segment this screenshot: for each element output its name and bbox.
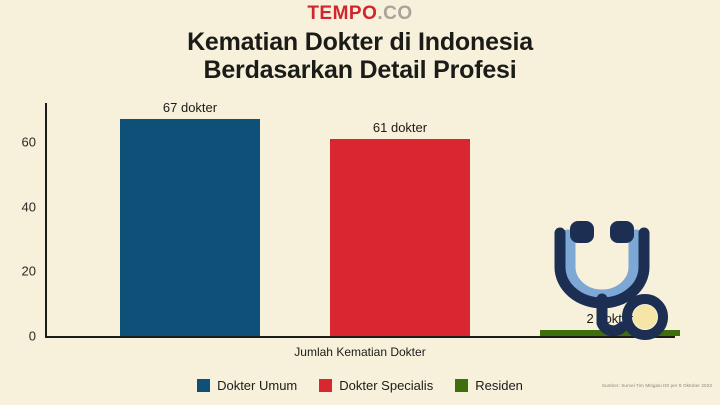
bar-value-label: 67 dokter: [163, 100, 217, 115]
y-tick-label: 40: [22, 199, 45, 214]
y-tick-label: 0: [29, 329, 45, 344]
brand-name: TEMPO: [307, 3, 377, 24]
y-tick-label: 60: [22, 134, 45, 149]
legend-swatch: [319, 379, 332, 392]
brand-suffix: .CO: [377, 3, 412, 24]
title-line-2: Berdasarkan Detail Profesi: [0, 56, 720, 84]
y-axis-line: [45, 103, 47, 338]
tempo-logo: TEMPO.CO: [0, 4, 720, 24]
x-axis-label: Jumlah Kematian Dokter: [45, 345, 675, 359]
legend-item[interactable]: Dokter Specialis: [319, 378, 433, 393]
legend-swatch: [455, 379, 468, 392]
legend-label: Dokter Specialis: [339, 378, 433, 393]
legend-item[interactable]: Residen: [455, 378, 523, 393]
bar-dokter-umum[interactable]: 67 dokter: [120, 119, 260, 336]
bar-dokter-specialis[interactable]: 61 dokter: [330, 139, 470, 336]
y-tick-label: 20: [22, 264, 45, 279]
legend-swatch: [197, 379, 210, 392]
page-title: Kematian Dokter di Indonesia Berdasarkan…: [0, 28, 720, 84]
legend-label: Dokter Umum: [217, 378, 297, 393]
stethoscope-icon: [540, 215, 690, 345]
title-line-1: Kematian Dokter di Indonesia: [187, 28, 533, 56]
legend-item[interactable]: Dokter Umum: [197, 378, 297, 393]
legend-label: Residen: [475, 378, 523, 393]
bar-chart: 0204060 67 dokter61 dokter2 dokter: [45, 103, 675, 338]
source-note: Sumber: Survei Tim Mitigasi IDI per 8 Ok…: [602, 383, 712, 388]
bar-value-label: 61 dokter: [373, 120, 427, 135]
